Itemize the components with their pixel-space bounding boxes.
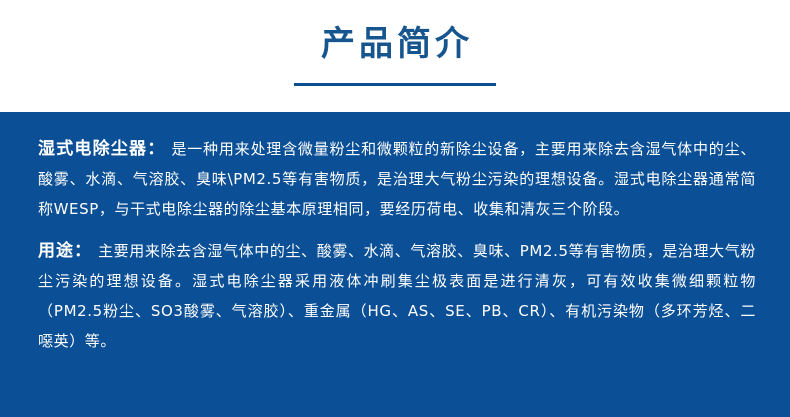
- paragraph-lead-label-wet-esp: 湿式电除尘器：: [38, 139, 165, 159]
- page-title: 产品简介: [317, 24, 473, 64]
- description-band: 湿式电除尘器：是一种用来处理含微量粉尘和微颗粒的新除尘设备，主要用来除去含湿气体…: [0, 112, 790, 417]
- paragraph-usage: 用途：主要用来除去含湿气体中的尘、酸雾、水滴、气溶胶、臭味、PM2.5等有害物质…: [38, 236, 756, 356]
- page-header: 产品简介: [0, 0, 790, 112]
- paragraph-wet-esp: 湿式电除尘器：是一种用来处理含微量粉尘和微颗粒的新除尘设备，主要用来除去含湿气体…: [38, 134, 756, 224]
- paragraph-lead-label-usage: 用途：: [38, 241, 92, 261]
- paragraph-body-usage: 主要用来除去含湿气体中的尘、酸雾、水滴、气溶胶、臭味、PM2.5等有害物质，是治…: [38, 242, 756, 350]
- product-intro-page: 产品简介 湿式电除尘器：是一种用来处理含微量粉尘和微颗粒的新除尘设备，主要用来除…: [0, 0, 790, 417]
- title-underline-rule: [294, 83, 496, 86]
